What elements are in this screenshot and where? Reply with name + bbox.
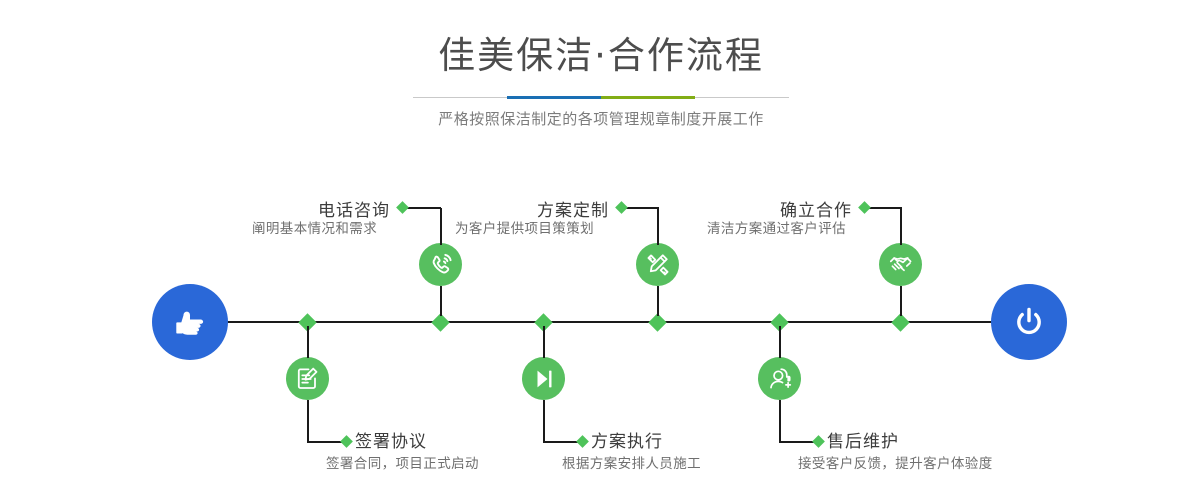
- page-subtitle: 严格按照保洁制定的各项管理规章制度开展工作: [0, 108, 1202, 129]
- flow-stem-6: [779, 400, 781, 442]
- process-flow-infographic: 佳美保洁·合作流程 严格按照保洁制定的各项管理规章制度开展工作: [0, 0, 1202, 502]
- flow-node-1[interactable]: [419, 243, 462, 286]
- pencil-ruler-icon: [645, 252, 671, 278]
- document-edit-icon: [295, 366, 321, 392]
- flow-tip-5: [858, 201, 871, 214]
- flow-stem-axis-4: [543, 326, 545, 358]
- divider-segment-green: [601, 96, 695, 99]
- flow-axis-marker-1: [431, 313, 449, 331]
- flow-label-desc-2: 签署合同，项目正式启动: [326, 452, 479, 472]
- headset-add-icon: [767, 366, 793, 392]
- page-title: 佳美保洁·合作流程: [0, 36, 1202, 77]
- flow-stem-5: [900, 208, 902, 245]
- flow-start-node[interactable]: [152, 284, 228, 360]
- flow-label-title-6: 售后维护: [827, 427, 899, 452]
- flow-tip-3: [615, 201, 628, 214]
- flow-stem-1: [440, 208, 442, 245]
- flow-stem-axis-1: [440, 286, 442, 316]
- divider-segment-blue: [507, 96, 601, 99]
- pointing-hand-icon: [170, 302, 210, 342]
- flow-stem-2: [307, 400, 309, 442]
- flow-node-5[interactable]: [879, 243, 922, 286]
- flow-tip-1: [396, 201, 409, 214]
- flow-label-title-2: 签署协议: [355, 427, 427, 452]
- flow-tip-6: [812, 435, 825, 448]
- title-divider: [413, 96, 789, 99]
- flow-axis-marker-3: [648, 313, 666, 331]
- flow-node-3[interactable]: [636, 243, 679, 286]
- flow-node-4[interactable]: [522, 357, 565, 400]
- flow-label-desc-5: 清洁方案通过客户评估: [707, 217, 846, 237]
- flow-node-6[interactable]: [758, 357, 801, 400]
- flow-stem-axis-3: [657, 286, 659, 316]
- power-icon: [1009, 302, 1049, 342]
- flow-stem-axis-6: [779, 326, 781, 358]
- flow-label-desc-4: 根据方案安排人员施工: [562, 452, 701, 472]
- flow-label-desc-1: 阐明基本情况和需求: [252, 217, 377, 237]
- handshake-icon: [888, 252, 914, 278]
- flow-label-desc-6: 接受客户反馈，提升客户体验度: [798, 452, 993, 472]
- flow-label-desc-3: 为客户提供项目策策划: [455, 217, 594, 237]
- phone-call-icon: [428, 252, 454, 278]
- flow-label-title-4: 方案执行: [591, 427, 663, 452]
- flow-stem-4: [543, 400, 545, 442]
- flow-tip-4: [576, 435, 589, 448]
- flow-tip-2: [340, 435, 353, 448]
- play-forward-icon: [531, 366, 557, 392]
- flow-stem-3: [657, 208, 659, 245]
- flow-stem-axis-5: [900, 286, 902, 316]
- flow-axis-marker-5: [891, 313, 909, 331]
- flow-stem-axis-2: [307, 326, 309, 358]
- flow-end-node[interactable]: [991, 284, 1067, 360]
- flow-node-2[interactable]: [286, 357, 329, 400]
